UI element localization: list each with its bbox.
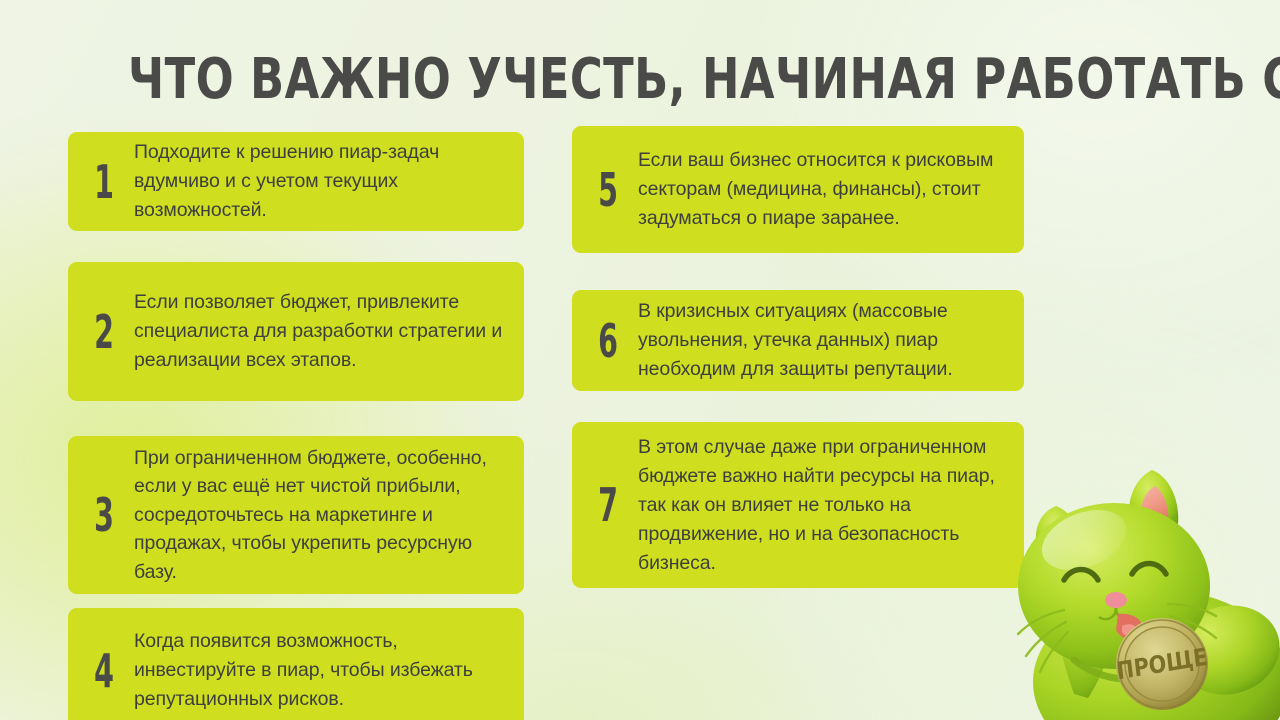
tip-text: В кризисных ситуациях (массовые увольнен… — [638, 297, 1024, 384]
page-title: ЧТО ВАЖНО УЧЕСТЬ, НАЧИНАЯ РАБОТАТЬ С ПИА… — [128, 52, 1152, 108]
tip-text: Если позволяет бюджет, привлеките специа… — [134, 288, 524, 375]
tip-number: 3 — [87, 492, 122, 538]
tip-card: 4 Когда появится возможность, инвестируй… — [68, 608, 524, 720]
tip-text: Когда появится возможность, инвестируйте… — [134, 627, 524, 714]
tip-text: При ограниченном бюджете, особенно, если… — [134, 444, 524, 587]
tip-number: 2 — [87, 309, 122, 355]
tip-number: 4 — [87, 648, 122, 694]
tip-card: 7 В этом случае даже при ограниченном бю… — [572, 422, 1024, 588]
tip-number: 1 — [87, 159, 122, 205]
tip-number: 7 — [591, 482, 626, 528]
tip-card: 6 В кризисных ситуациях (массовые увольн… — [572, 290, 1024, 391]
tip-card: 1 Подходите к решению пиар-задач вдумчив… — [68, 132, 524, 231]
tip-number: 6 — [591, 318, 626, 364]
tip-number: 5 — [591, 167, 626, 213]
slide-root: ЧТО ВАЖНО УЧЕСТЬ, НАЧИНАЯ РАБОТАТЬ С ПИА… — [0, 0, 1280, 720]
tip-card: 3 При ограниченном бюджете, особенно, ес… — [68, 436, 524, 594]
tip-card: 2 Если позволяет бюджет, привлеките спец… — [68, 262, 524, 401]
tip-text: Если ваш бизнес относится к рисковым сек… — [638, 146, 1024, 233]
tip-text: Подходите к решению пиар-задач вдумчиво … — [134, 138, 524, 225]
tip-text: В этом случае даже при ограниченном бюдж… — [638, 433, 1024, 578]
tip-card: 5 Если ваш бизнес относится к рисковым с… — [572, 126, 1024, 253]
